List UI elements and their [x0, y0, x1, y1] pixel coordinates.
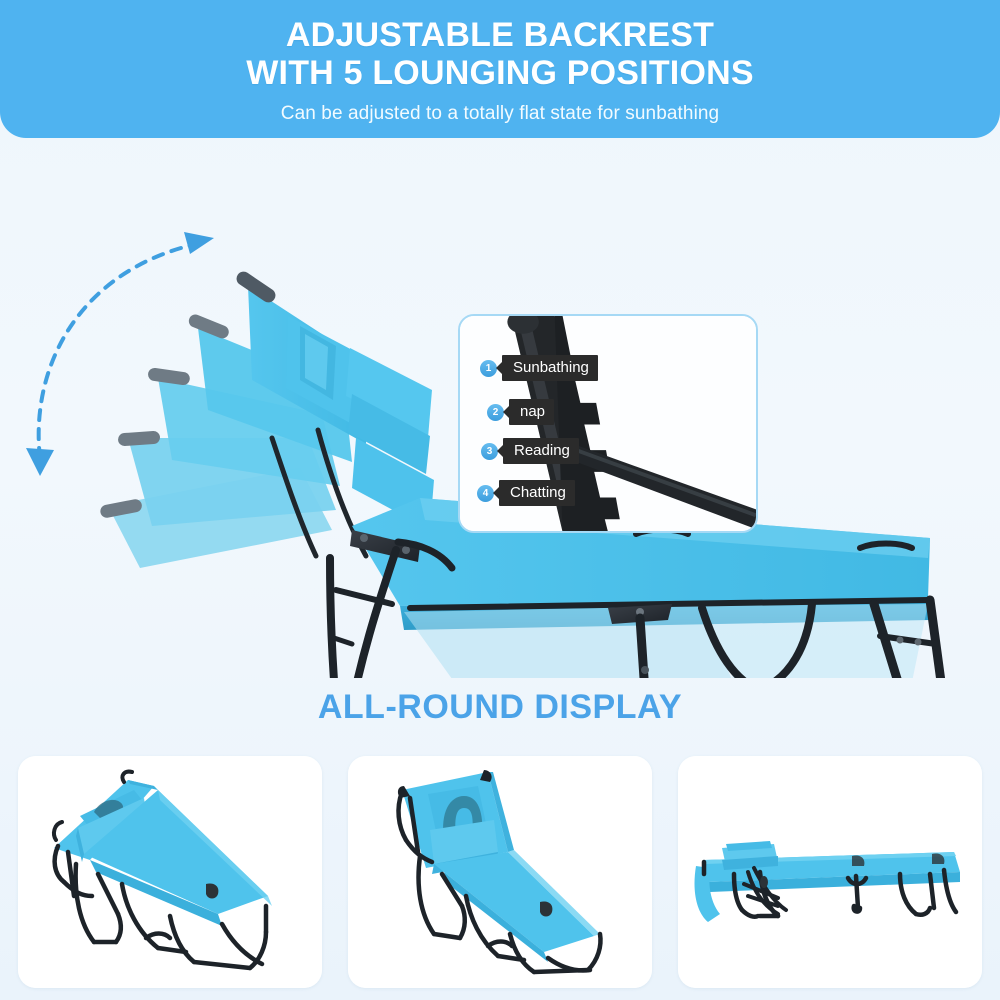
all-round-display-title: ALL-ROUND DISPLAY — [0, 688, 1000, 727]
position-label-1: Sunbathing — [502, 355, 598, 381]
position-row-3: 3 Reading — [481, 438, 579, 464]
position-label-3: Reading — [503, 438, 579, 464]
header-banner: ADJUSTABLE BACKREST WITH 5 LOUNGING POSI… — [0, 0, 1000, 138]
backrest-ghost-positions — [99, 269, 368, 568]
position-badge-2: 2 — [487, 404, 504, 421]
chair-photo-reclined-angled — [348, 756, 652, 988]
thumbnail-card-reclined-angled[interactable] — [348, 756, 652, 988]
position-row-1: 1 Sunbathing — [480, 355, 598, 381]
position-badge-1: 1 — [480, 360, 497, 377]
position-row-2: 2 nap — [487, 399, 554, 425]
positions-callout-card: 1 Sunbathing 2 nap 3 Reading 4 Chatting — [458, 314, 758, 533]
thumbnail-card-reclined-side[interactable] — [18, 756, 322, 988]
page-title: ADJUSTABLE BACKREST WITH 5 LOUNGING POSI… — [0, 0, 1000, 92]
thumbnail-card-flat-side[interactable] — [678, 756, 982, 988]
banner-subtitle: Can be adjusted to a totally flat state … — [0, 103, 1000, 125]
chair-photo-flat-side — [678, 756, 982, 988]
position-badge-3: 3 — [481, 443, 498, 460]
hero-illustration: 1 Sunbathing 2 nap 3 Reading 4 Chatting — [0, 138, 1000, 678]
position-row-4: 4 Chatting — [477, 480, 575, 506]
title-line-2: WITH 5 LOUNGING POSITIONS — [0, 54, 1000, 92]
thumbnail-gallery — [0, 756, 1000, 988]
product-infographic: ADJUSTABLE BACKREST WITH 5 LOUNGING POSI… — [0, 0, 1000, 1000]
position-badge-4: 4 — [477, 485, 494, 502]
position-label-4: Chatting — [499, 480, 575, 506]
chair-photo-reclined-side — [18, 756, 322, 988]
title-line-1: ADJUSTABLE BACKREST — [286, 16, 714, 54]
position-label-2: nap — [509, 399, 554, 425]
